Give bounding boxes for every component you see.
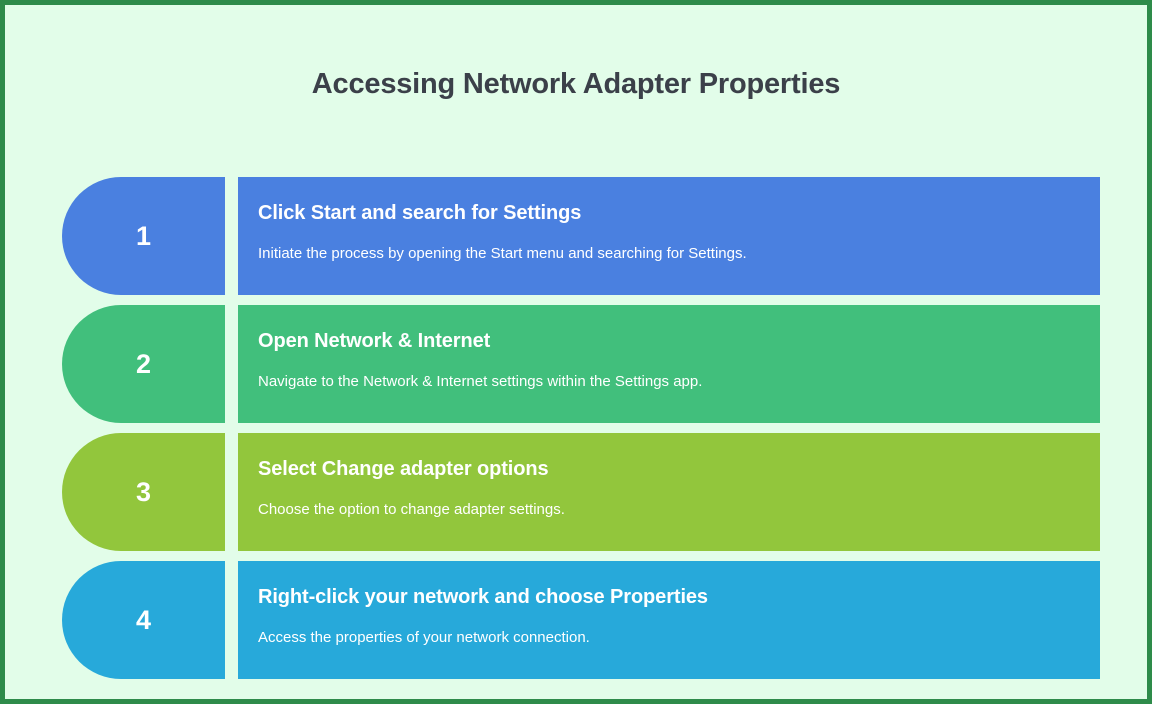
step-description: Access the properties of your network co… [258,628,1100,648]
step-description: Navigate to the Network & Internet setti… [258,372,1100,392]
step-number-badge: 4 [62,561,225,679]
step-content-panel: Right-click your network and choose Prop… [238,561,1100,679]
step-heading: Click Start and search for Settings [258,201,1100,226]
step-number-badge: 3 [62,433,225,551]
page-title: Accessing Network Adapter Properties [5,67,1147,102]
step-heading: Open Network & Internet [258,329,1100,354]
step-row: 3 Select Change adapter options Choose t… [62,433,1100,551]
step-number-label: 1 [136,223,151,250]
step-row: 2 Open Network & Internet Navigate to th… [62,305,1100,423]
step-row: 4 Right-click your network and choose Pr… [62,561,1100,679]
step-number-label: 4 [136,607,151,634]
step-number-badge: 2 [62,305,225,423]
step-content-panel: Select Change adapter options Choose the… [238,433,1100,551]
step-number-label: 2 [136,351,151,378]
step-content-panel: Open Network & Internet Navigate to the … [238,305,1100,423]
step-number-label: 3 [136,479,151,506]
step-description: Initiate the process by opening the Star… [258,244,1100,264]
step-content-panel: Click Start and search for Settings Init… [238,177,1100,295]
step-row: 1 Click Start and search for Settings In… [62,177,1100,295]
infographic-container: Accessing Network Adapter Properties 1 C… [0,0,1152,704]
steps-list: 1 Click Start and search for Settings In… [62,177,1100,679]
step-description: Choose the option to change adapter sett… [258,500,1100,520]
step-heading: Right-click your network and choose Prop… [258,585,1100,610]
step-heading: Select Change adapter options [258,457,1100,482]
step-number-badge: 1 [62,177,225,295]
